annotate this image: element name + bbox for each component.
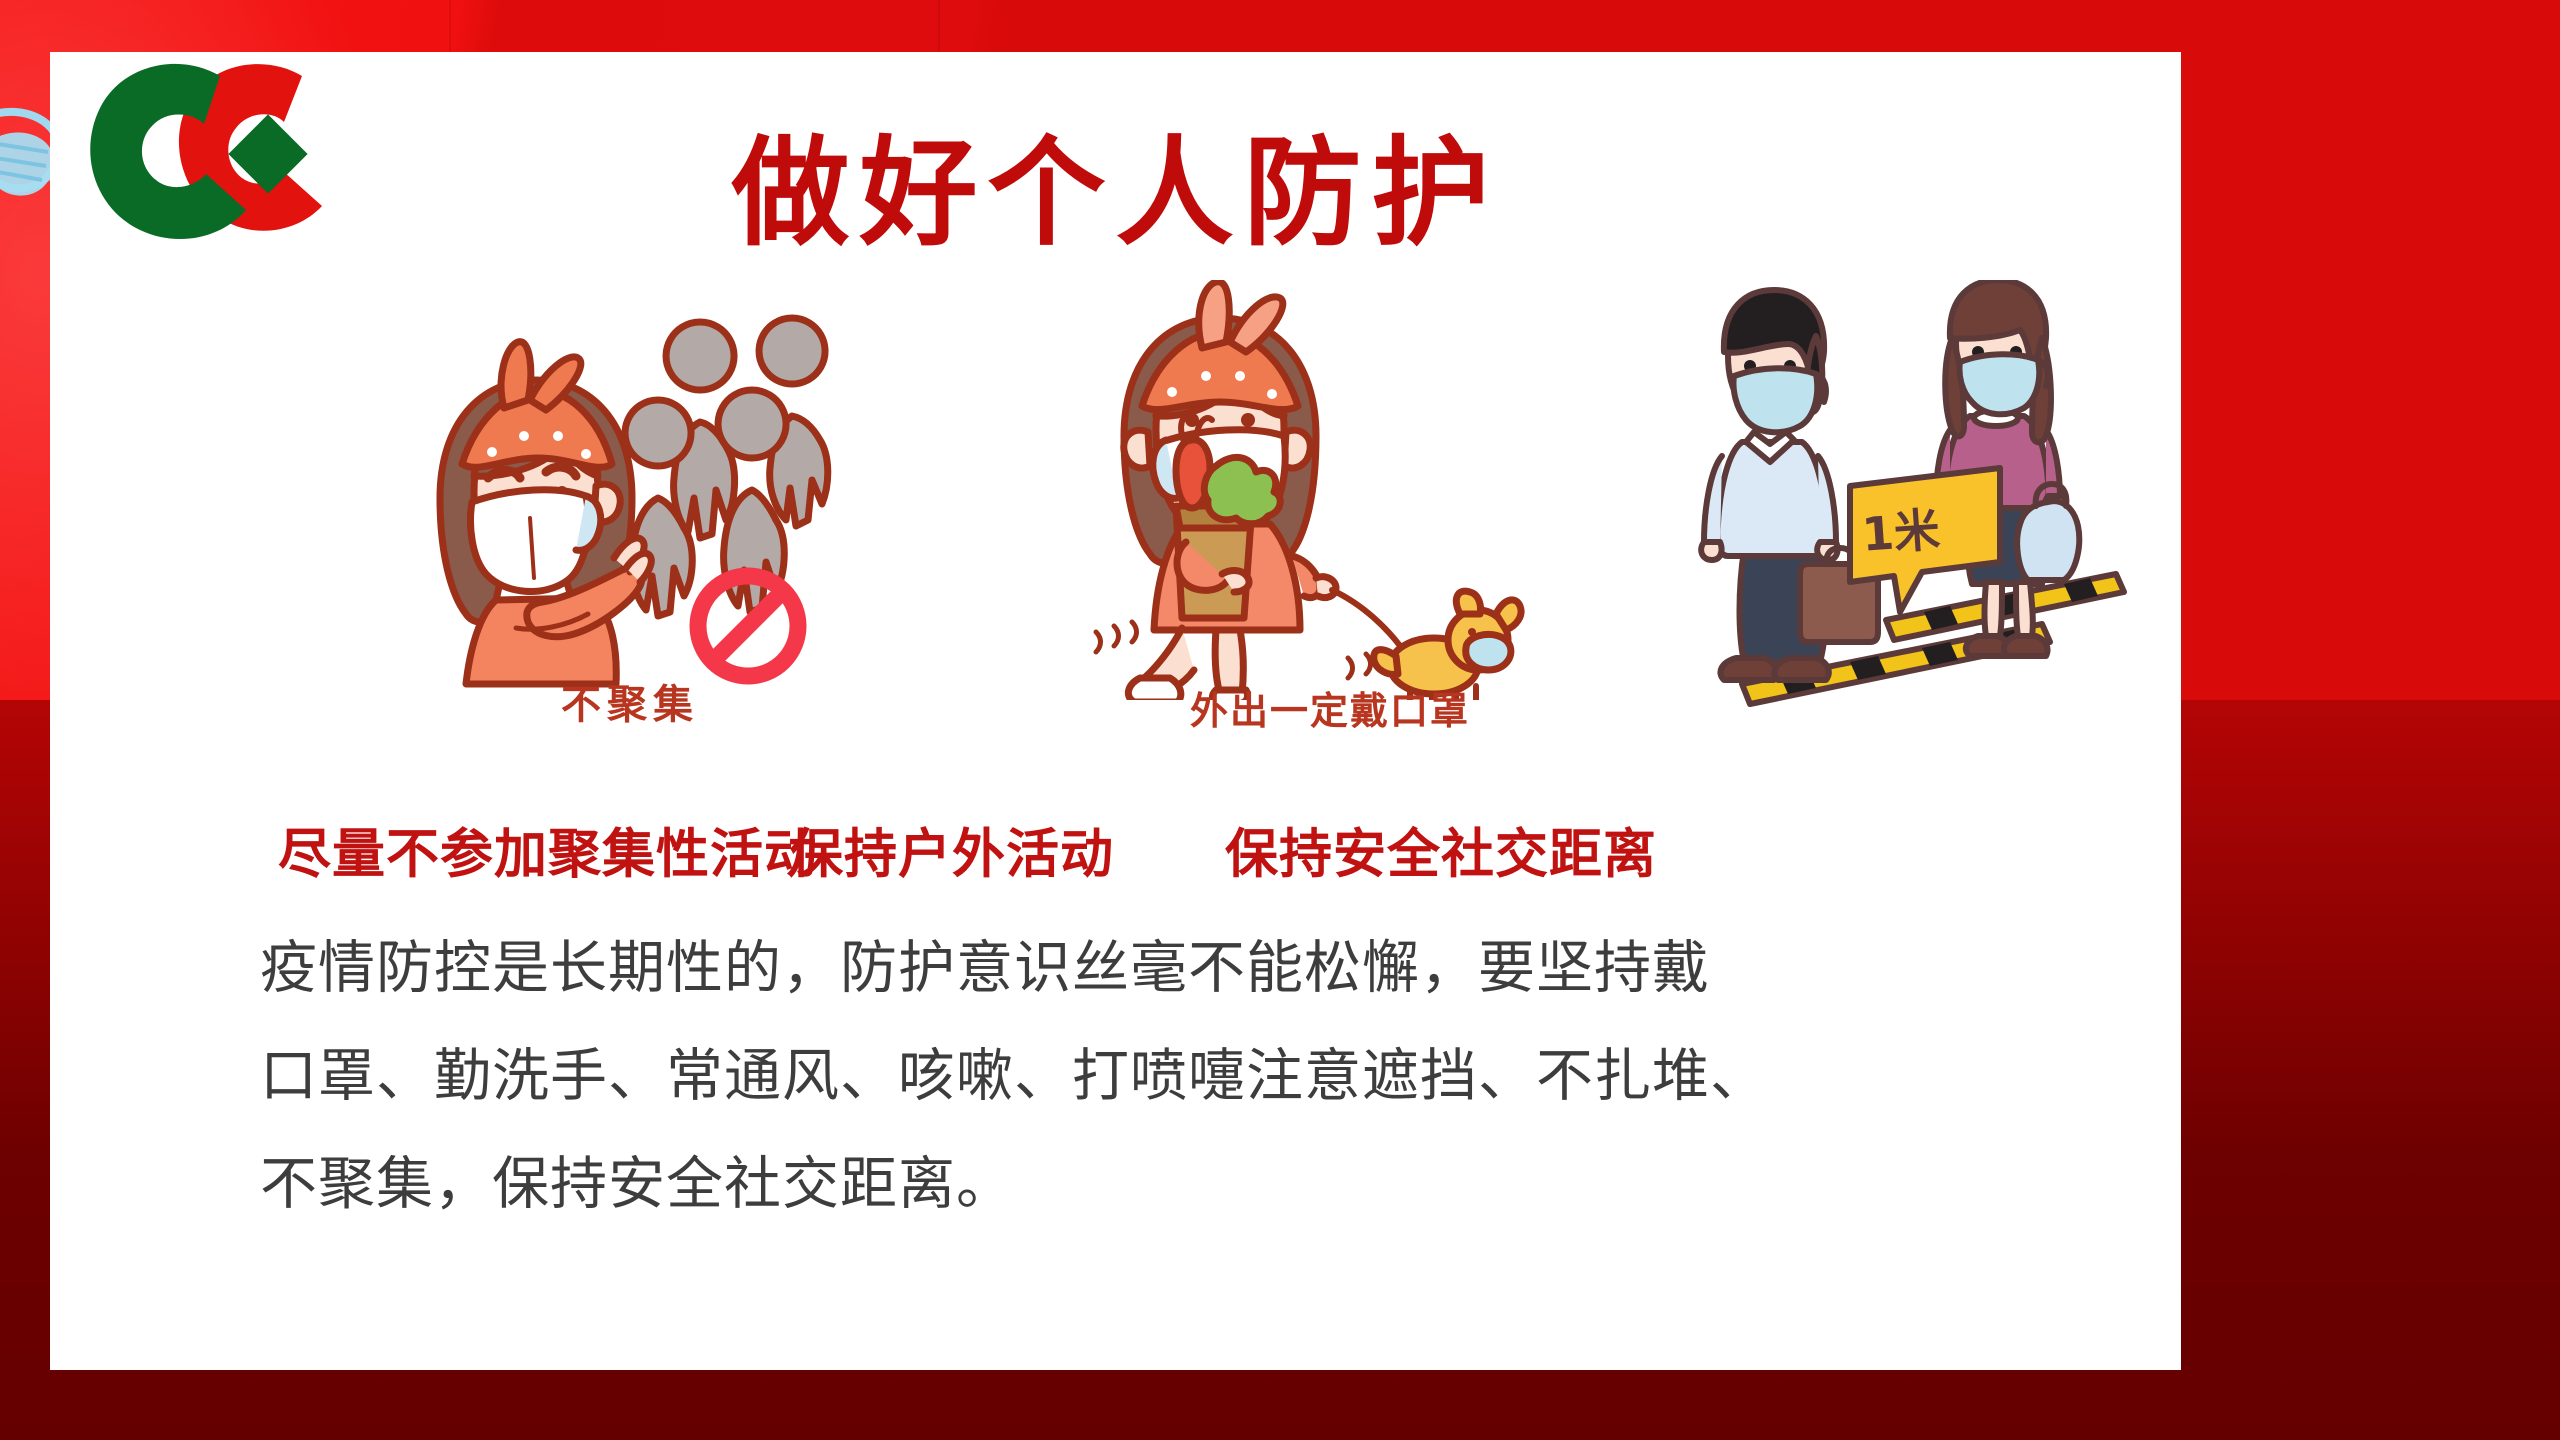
body-line-3: 不聚集，保持安全社交距离。: [260, 1130, 2160, 1238]
social-distance-graphic: 1米: [1650, 280, 2170, 720]
page-title: 做好个人防护: [50, 132, 2181, 256]
illustration-caption-wear-mask: 外出一定戴口罩: [1120, 680, 1540, 735]
wear-mask-graphic: [1080, 280, 1560, 700]
no-gathering-graphic: [400, 280, 920, 700]
subcaption-social-distance: 保持安全社交距离: [1225, 812, 1657, 888]
body-line-2: 口罩、勤洗手、常通风、咳嗽、打喷嚏注意遮挡、不扎堆、: [260, 1022, 2160, 1130]
subcaption-avoid-gatherings: 尽量不参加聚集性活动: [278, 812, 818, 888]
subcaption-outdoor-activity: 保持户外活动: [790, 812, 1114, 888]
illustration-row: 不聚集: [50, 280, 2181, 780]
body-paragraph: 疫情防控是长期性的，防护意识丝毫不能松懈，要坚持戴 口罩、勤洗手、常通风、咳嗽、…: [260, 914, 2160, 1238]
illustration-social-distance: 1米: [1650, 280, 2170, 780]
distance-sign-text: 1米: [1860, 502, 1942, 561]
slide-card: 做好个人防护: [50, 52, 2181, 1370]
illustration-wear-mask: 外出一定戴口罩: [1080, 280, 1560, 780]
body-line-1: 疫情防控是长期性的，防护意识丝毫不能松懈，要坚持戴: [260, 914, 2160, 1022]
illustration-no-gathering: 不聚集: [400, 280, 920, 780]
illustration-caption-no-gathering: 不聚集: [470, 672, 790, 730]
